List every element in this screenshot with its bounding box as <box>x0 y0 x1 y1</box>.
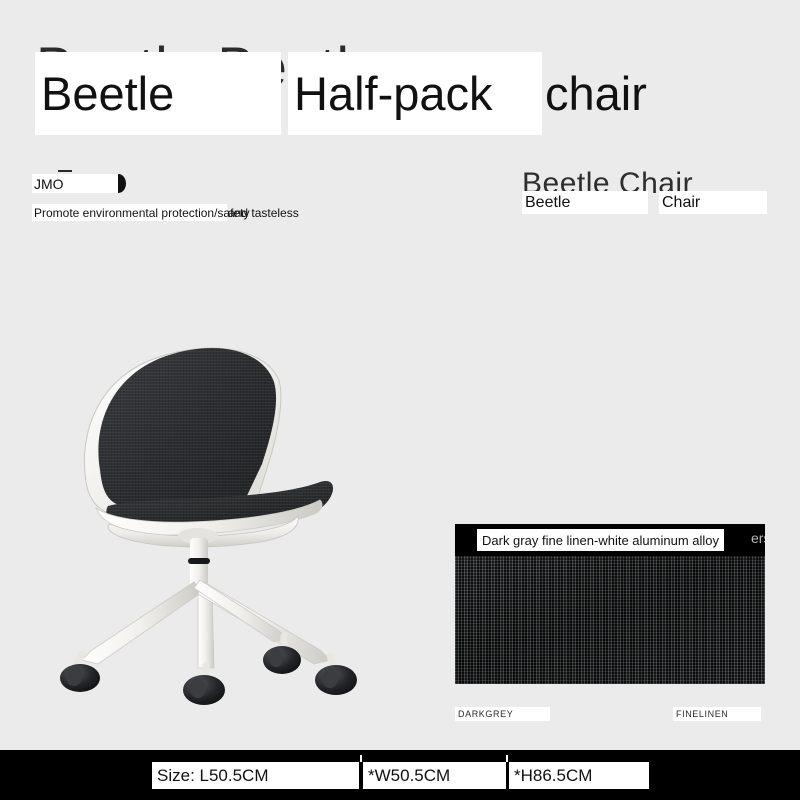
subtitle-text-tail: and tasteless <box>228 204 299 221</box>
brand-label: JMO <box>32 174 118 193</box>
size-width: *W50.5CM <box>363 762 506 789</box>
right-label-beetle: Beetle <box>522 191 648 214</box>
fabric-swatch-label: Dark gray fine linen-white aluminum allo… <box>477 529 724 551</box>
product-photo-office-chair <box>48 330 398 720</box>
subtitle-text: Promote environmental protection/safety <box>32 204 227 221</box>
fabric-caption-material: FINELINEN <box>673 707 761 721</box>
brand-bracket-glyph <box>118 174 126 193</box>
brand-accent-mark <box>58 170 72 172</box>
size-length: Size: L50.5CM <box>152 762 359 789</box>
size-height: *H86.5CM <box>509 762 649 789</box>
fabric-caption-color: DARKGREY <box>455 707 550 721</box>
size-tick-1 <box>360 755 362 762</box>
fabric-swatch-texture <box>455 556 765 684</box>
chair-column-collar <box>188 558 210 564</box>
product-page: Beetle Beetle Beetle Chair Beetle Half-p… <box>0 0 800 800</box>
fabric-swatch-ghost-tail: ers <box>751 530 765 546</box>
page-title-part-2: Half-pack <box>288 52 542 135</box>
page-title-part-3: chair <box>545 52 647 135</box>
fabric-swatch-card: ers Dark gray fine linen-white aluminum … <box>455 524 765 684</box>
page-title-part-1: Beetle <box>35 52 281 135</box>
size-tick-2 <box>506 755 508 762</box>
right-label-chair: Chair <box>659 191 767 214</box>
